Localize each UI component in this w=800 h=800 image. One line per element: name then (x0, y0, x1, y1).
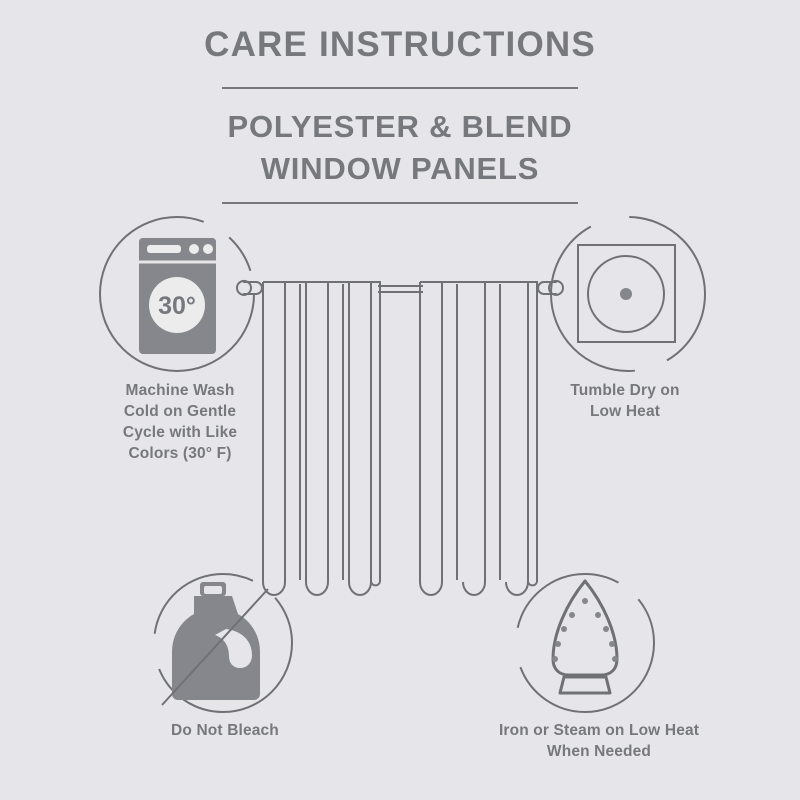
caption-line: Cycle with Like (65, 422, 295, 443)
caption-line: Low Heat (510, 401, 740, 422)
caption-line: Iron or Steam on Low Heat (484, 720, 714, 741)
divider-bottom (222, 202, 578, 204)
subtitle-line-2: WINDOW PANELS (0, 148, 800, 190)
caption-line: Cold on Gentle (65, 401, 295, 422)
washing-machine-icon: 30° (95, 212, 265, 382)
iron-icon (500, 565, 670, 735)
care-instructions-infographic: CARE INSTRUCTIONS POLYESTER & BLEND WIND… (0, 0, 800, 800)
caption-line: Tumble Dry on (510, 380, 740, 401)
care-item-iron: Iron or Steam on Low Heat When Needed (500, 565, 670, 735)
divider-top (222, 87, 578, 89)
iron-caption: Iron or Steam on Low Heat When Needed (484, 720, 714, 762)
page-subtitle: POLYESTER & BLEND WINDOW PANELS (0, 106, 800, 190)
wash-temperature-label: 30° (158, 292, 196, 320)
machine-wash-caption: Machine Wash Cold on Gentle Cycle with L… (65, 380, 295, 464)
caption-line: Machine Wash (65, 380, 295, 401)
caption-line: When Needed (484, 741, 714, 762)
caption-line: Colors (30° F) (65, 443, 295, 464)
tumble-dry-caption: Tumble Dry on Low Heat (510, 380, 740, 422)
care-item-machine-wash: 30° Machine Wash Cold on Gentle Cycle wi… (95, 212, 265, 382)
care-item-tumble-dry: Tumble Dry on Low Heat (540, 212, 710, 382)
tumble-dry-icon (540, 212, 710, 382)
care-item-do-not-bleach: Do Not Bleach (140, 565, 310, 735)
subtitle-line-1: POLYESTER & BLEND (0, 106, 800, 148)
caption-line: Do Not Bleach (110, 720, 340, 741)
do-not-bleach-caption: Do Not Bleach (110, 720, 340, 741)
no-bleach-icon (140, 565, 310, 735)
page-title: CARE INSTRUCTIONS (0, 24, 800, 66)
